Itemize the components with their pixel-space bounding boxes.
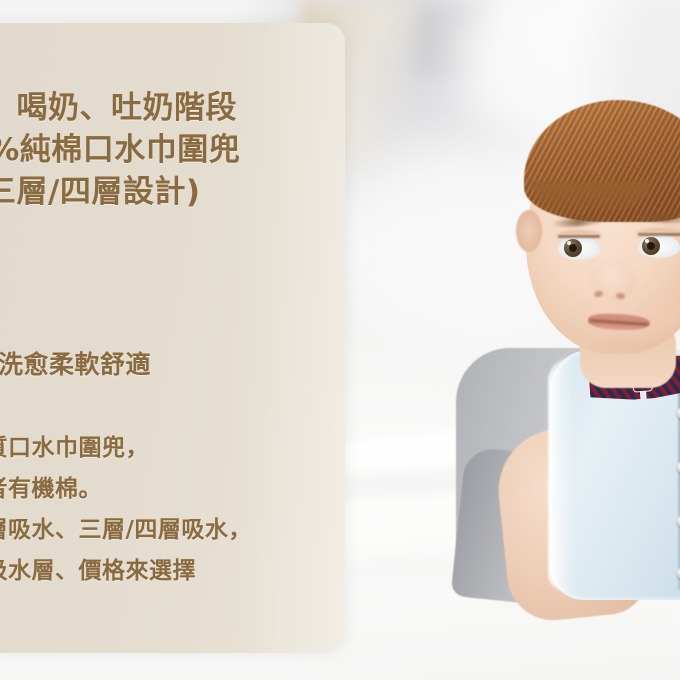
paragraph-line-1: 雙面棉質口水巾圍兜，: [0, 437, 149, 460]
heading-line-1: 階段：喝奶、吐奶階段: [0, 93, 237, 124]
bib-button: [676, 568, 680, 579]
description-panel-content: 階段：喝奶、吐奶階段 100%純棉口水巾圍兜 層或三層/四層設計) 細緻 吸水層…: [0, 23, 345, 653]
bib-button: [676, 462, 680, 473]
screenshot-stage: 階段：喝奶、吐奶階段 100%純棉口水巾圍兜 層或三層/四層設計) 細緻 吸水層…: [0, 0, 680, 680]
paragraph-line-3: 則有雙層吸水、三層/四層吸水，: [0, 519, 252, 542]
eye-highlight: [645, 239, 649, 243]
description-panel: 階段：喝奶、吐奶階段 100%純棉口水巾圍兜 層或三層/四層設計) 細緻 吸水層…: [0, 23, 345, 653]
baby-photo-subject: [440, 60, 680, 600]
heading-line-3: 層或三層/四層設計): [0, 177, 201, 208]
paragraph-line-5: 的圍兜。: [0, 601, 8, 624]
eye-pupil: [569, 244, 577, 252]
feature-line-3: 水力，愈洗愈柔軟舒適: [0, 352, 151, 377]
heading-line-2: 100%純棉口水巾圍兜: [0, 135, 240, 166]
eye-pupil: [647, 242, 655, 250]
bib-button: [676, 516, 680, 527]
baby-chin: [590, 334, 656, 356]
paragraph-line-4: 材質跟吸水層、價格來選擇: [0, 560, 196, 583]
baby-eyelash-left: [558, 235, 600, 238]
eye-highlight: [567, 241, 571, 245]
paragraph-line-2: 純棉或者有機棉。: [0, 478, 102, 501]
bib-button: [676, 408, 680, 419]
baby-bib-edge: [548, 356, 574, 592]
baby-eyelash-right: [638, 233, 680, 236]
baby-ear: [516, 210, 542, 252]
